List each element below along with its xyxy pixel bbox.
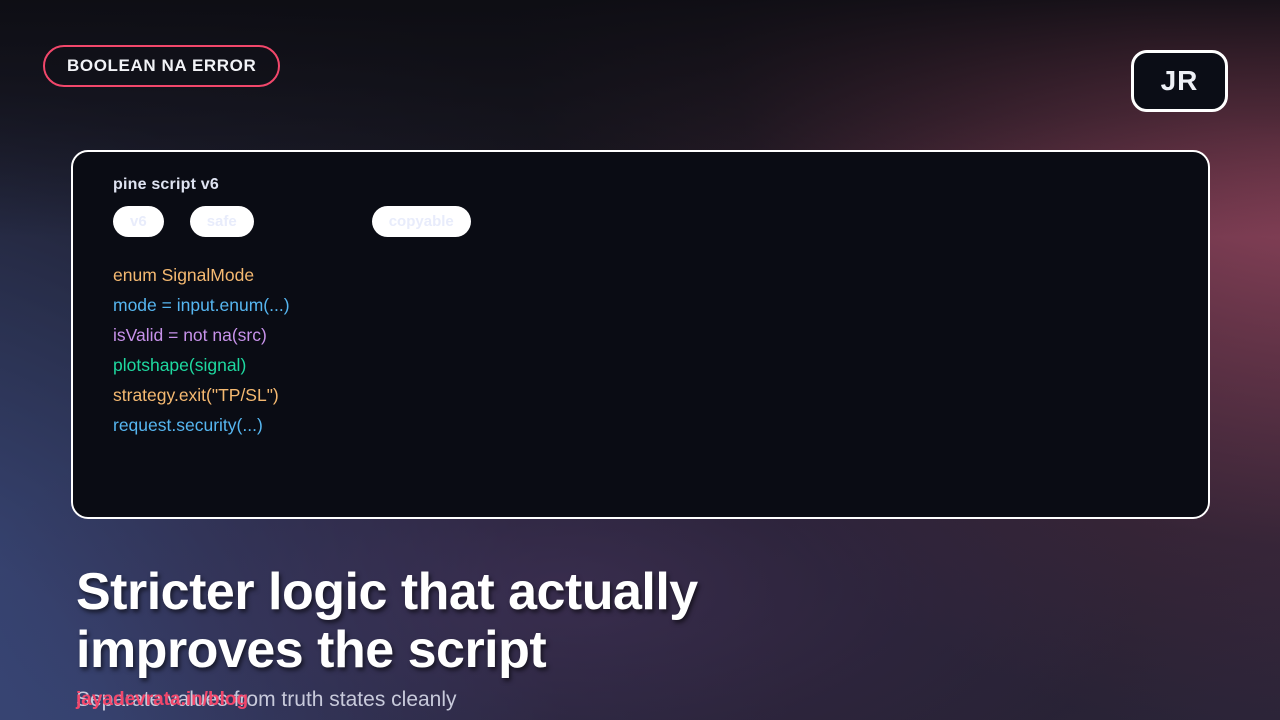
code-card: pine script v6 v6 safe copyable enum Sig… xyxy=(71,150,1210,519)
code-line: enum SignalMode xyxy=(113,260,1186,290)
code-card-title: pine script v6 xyxy=(113,176,1186,194)
chip-safe-label: safe xyxy=(207,213,237,230)
code-line: request.security(...) xyxy=(113,410,1186,440)
chip-copyable-label: copyable xyxy=(389,213,454,230)
slide-canvas: BOOLEAN NA ERROR JR pine script v6 v6 sa… xyxy=(0,0,1280,720)
chip-safe[interactable]: safe xyxy=(190,206,254,237)
status-badge-label: BOOLEAN NA ERROR xyxy=(67,56,256,76)
status-badge: BOOLEAN NA ERROR xyxy=(43,45,280,87)
avatar[interactable]: JR xyxy=(1131,50,1228,112)
code-line: mode = input.enum(...) xyxy=(113,290,1186,320)
page-title-line-2: improves the script xyxy=(76,621,776,679)
code-line: isValid = not na(src) xyxy=(113,320,1186,350)
code-block: enum SignalMode mode = input.enum(...) i… xyxy=(113,260,1186,440)
page-title: Stricter logic that actually improves th… xyxy=(76,563,776,679)
site-url[interactable]: jayadevrata.in/blog xyxy=(76,689,248,711)
chip-v6[interactable]: v6 xyxy=(113,206,164,237)
code-line: strategy.exit("TP/SL") xyxy=(113,380,1186,410)
chip-v6-label: v6 xyxy=(130,213,147,230)
code-line: plotshape(signal) xyxy=(113,350,1186,380)
chip-copyable[interactable]: copyable xyxy=(372,206,471,237)
avatar-initials: JR xyxy=(1161,65,1199,97)
code-card-chip-row: v6 safe copyable xyxy=(113,206,1186,237)
chip-row-spacer xyxy=(280,221,346,222)
page-title-line-1: Stricter logic that actually xyxy=(76,563,776,621)
